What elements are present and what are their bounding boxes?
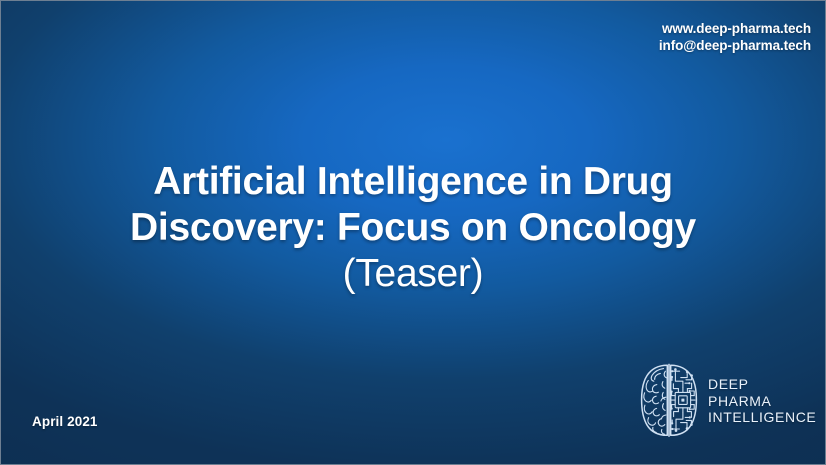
- logo-word-pharma: PHARMA: [708, 393, 816, 410]
- page-title: Artificial Intelligence in Drug Discover…: [1, 159, 825, 297]
- company-logo: DEEP PHARMA INTELLIGENCE: [639, 361, 816, 439]
- email-text: info@deep-pharma.tech: [659, 37, 811, 54]
- logo-word-deep: DEEP: [708, 376, 816, 393]
- title-slide: www.deep-pharma.tech info@deep-pharma.te…: [0, 0, 826, 465]
- website-text: www.deep-pharma.tech: [659, 20, 811, 37]
- contact-block: www.deep-pharma.tech info@deep-pharma.te…: [659, 20, 811, 54]
- title-subtitle-teaser: (Teaser): [1, 251, 825, 297]
- logo-wordmark: DEEP PHARMA INTELLIGENCE: [708, 374, 816, 426]
- title-line-2: Discovery: Focus on Oncology: [1, 205, 825, 251]
- logo-word-intelligence: INTELLIGENCE: [708, 409, 816, 426]
- date-label: April 2021: [32, 414, 98, 429]
- brain-circuit-icon: [639, 361, 699, 439]
- title-line-1: Artificial Intelligence in Drug: [1, 159, 825, 205]
